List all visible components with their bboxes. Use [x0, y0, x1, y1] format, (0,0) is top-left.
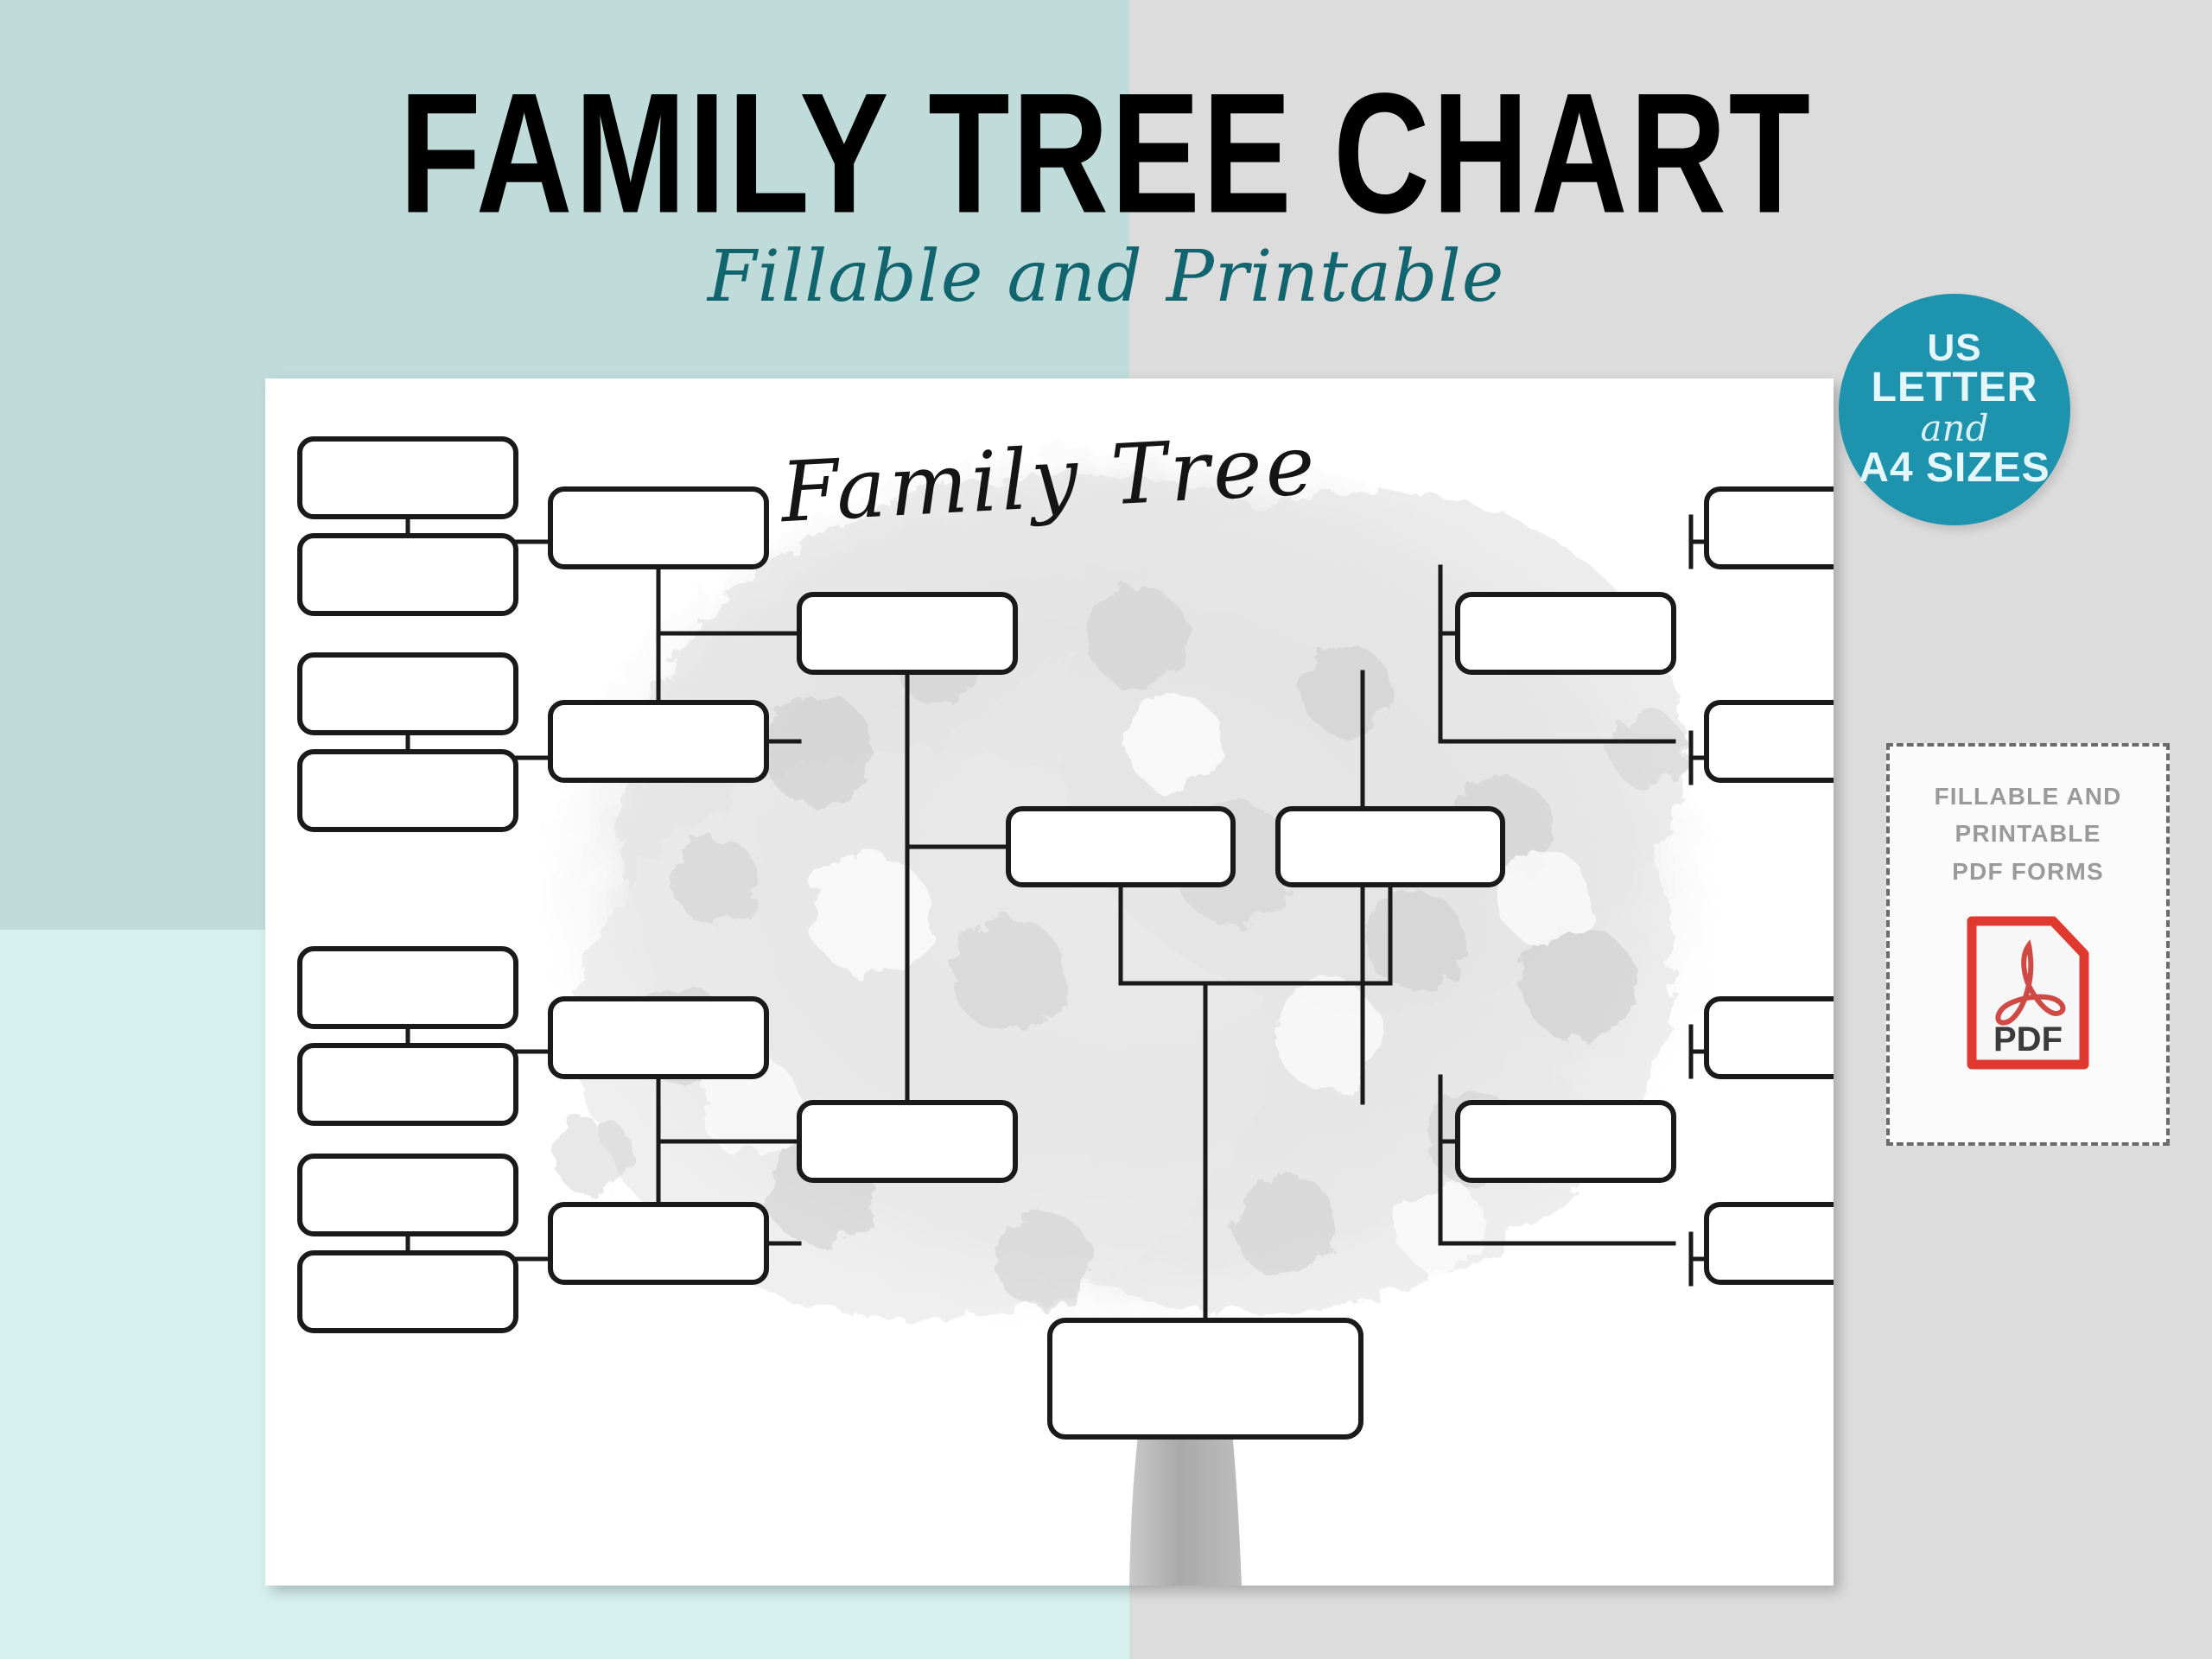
box-L-ggp-4	[300, 752, 516, 829]
box-L-ggp-6	[300, 1046, 516, 1123]
badge-line-us: US	[1927, 329, 1981, 368]
header: FAMILY TREE CHART Fillable and Printable	[0, 0, 2212, 363]
pdf-icon-label: PDF	[1993, 1020, 2063, 1058]
page-title: FAMILY TREE CHART	[88, 67, 2123, 238]
box-L-ggp-5	[300, 949, 516, 1027]
box-L-p-1	[799, 594, 1015, 672]
pdf-info-box: FILLABLE AND PRINTABLE PDF FORMS PDF	[1886, 743, 2170, 1146]
box-L-gp-3	[550, 999, 766, 1077]
box-R-gp-4	[1707, 1205, 1834, 1282]
box-R-p-1	[1458, 594, 1674, 672]
box-L-ggp-7	[300, 1156, 516, 1234]
pdf-info-line-2: PRINTABLE	[1934, 815, 2121, 852]
box-R-gp-3	[1707, 999, 1834, 1077]
box-L-ggp-8	[300, 1253, 516, 1331]
box-R-p-2	[1458, 1103, 1674, 1180]
badge-line-letter: LETTER	[1872, 367, 2038, 410]
badge-line-a4: A4 SIZES	[1859, 448, 2050, 490]
box-L-gp-2	[550, 702, 766, 780]
box-L-gp-1	[550, 489, 766, 567]
box-L-gp-4	[550, 1205, 766, 1282]
box-L-p-2	[799, 1103, 1015, 1180]
page-subtitle: Fillable and Printable	[0, 242, 2212, 313]
badge-line-and: and	[1921, 410, 1989, 448]
box-R-gp-1	[1707, 489, 1834, 567]
box-L-ggp-2	[300, 536, 516, 613]
pdf-info-line-1: FILLABLE AND	[1934, 778, 2121, 815]
box-mother	[1278, 809, 1503, 885]
family-tree-card: Family Tree	[265, 378, 1834, 1586]
pdf-icon: PDF	[1963, 912, 2093, 1077]
box-R-gp-2	[1707, 702, 1834, 780]
family-tree-diagram	[265, 378, 1834, 1586]
pdf-info-text: FILLABLE AND PRINTABLE PDF FORMS	[1934, 778, 2121, 890]
box-L-ggp-3	[300, 655, 516, 733]
pdf-info-line-3: PDF FORMS	[1934, 853, 2121, 890]
box-father	[1008, 809, 1233, 885]
size-badge: US LETTER and A4 SIZES	[1839, 294, 2070, 525]
box-L-ggp-1	[300, 439, 516, 517]
box-self	[1050, 1320, 1361, 1437]
